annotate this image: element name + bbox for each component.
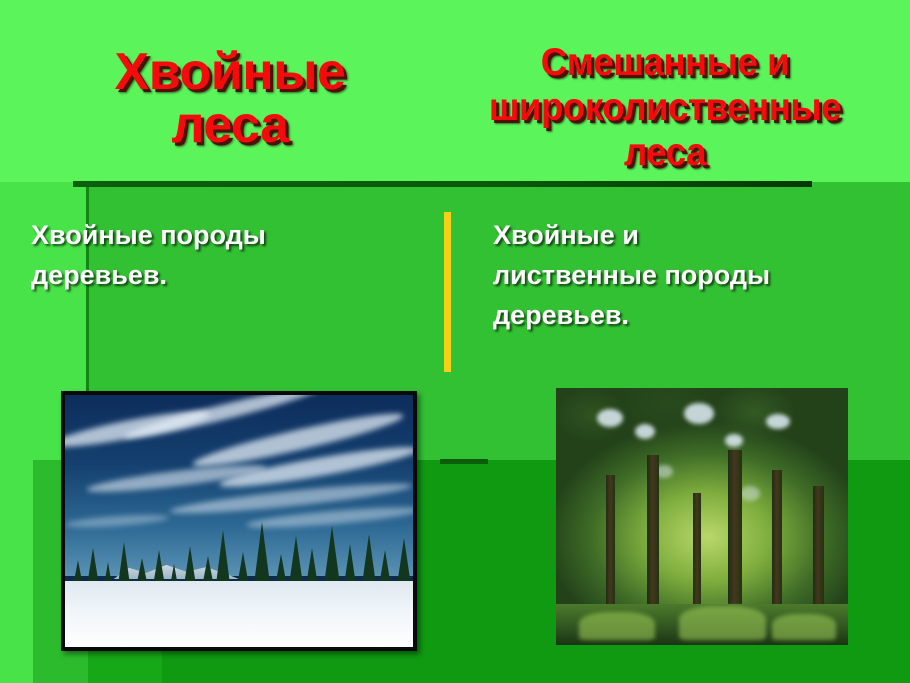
grass-patch [679,606,767,639]
presentation-slide: Хвойные леса Смешанные и широколиственны… [0,0,910,683]
left-column-body-text: Хвойные породы деревьев. [31,216,411,296]
sky-gap [684,403,713,424]
right-column-title: Смешанные и широколиственные леса [446,40,884,176]
conifer-treeline [65,516,413,592]
left-column-image [61,391,417,651]
middle-horizontal-rule [440,459,488,464]
yellow-vertical-divider [444,212,451,372]
left-column-title: Хвойные леса [40,46,420,152]
sky-gap [597,409,623,427]
winter-forest-scene [65,395,413,647]
grass-patch [772,614,836,640]
sky-gap [725,434,743,447]
right-column-body-text: Хвойные и лиственные породы деревьев. [493,216,883,336]
broadleaf-forest-scene [556,388,848,645]
snow-field [65,581,413,647]
title-horizontal-rule [73,181,812,187]
right-column-image [556,388,848,645]
sky-gap [766,414,789,429]
grass-patch [579,612,655,640]
